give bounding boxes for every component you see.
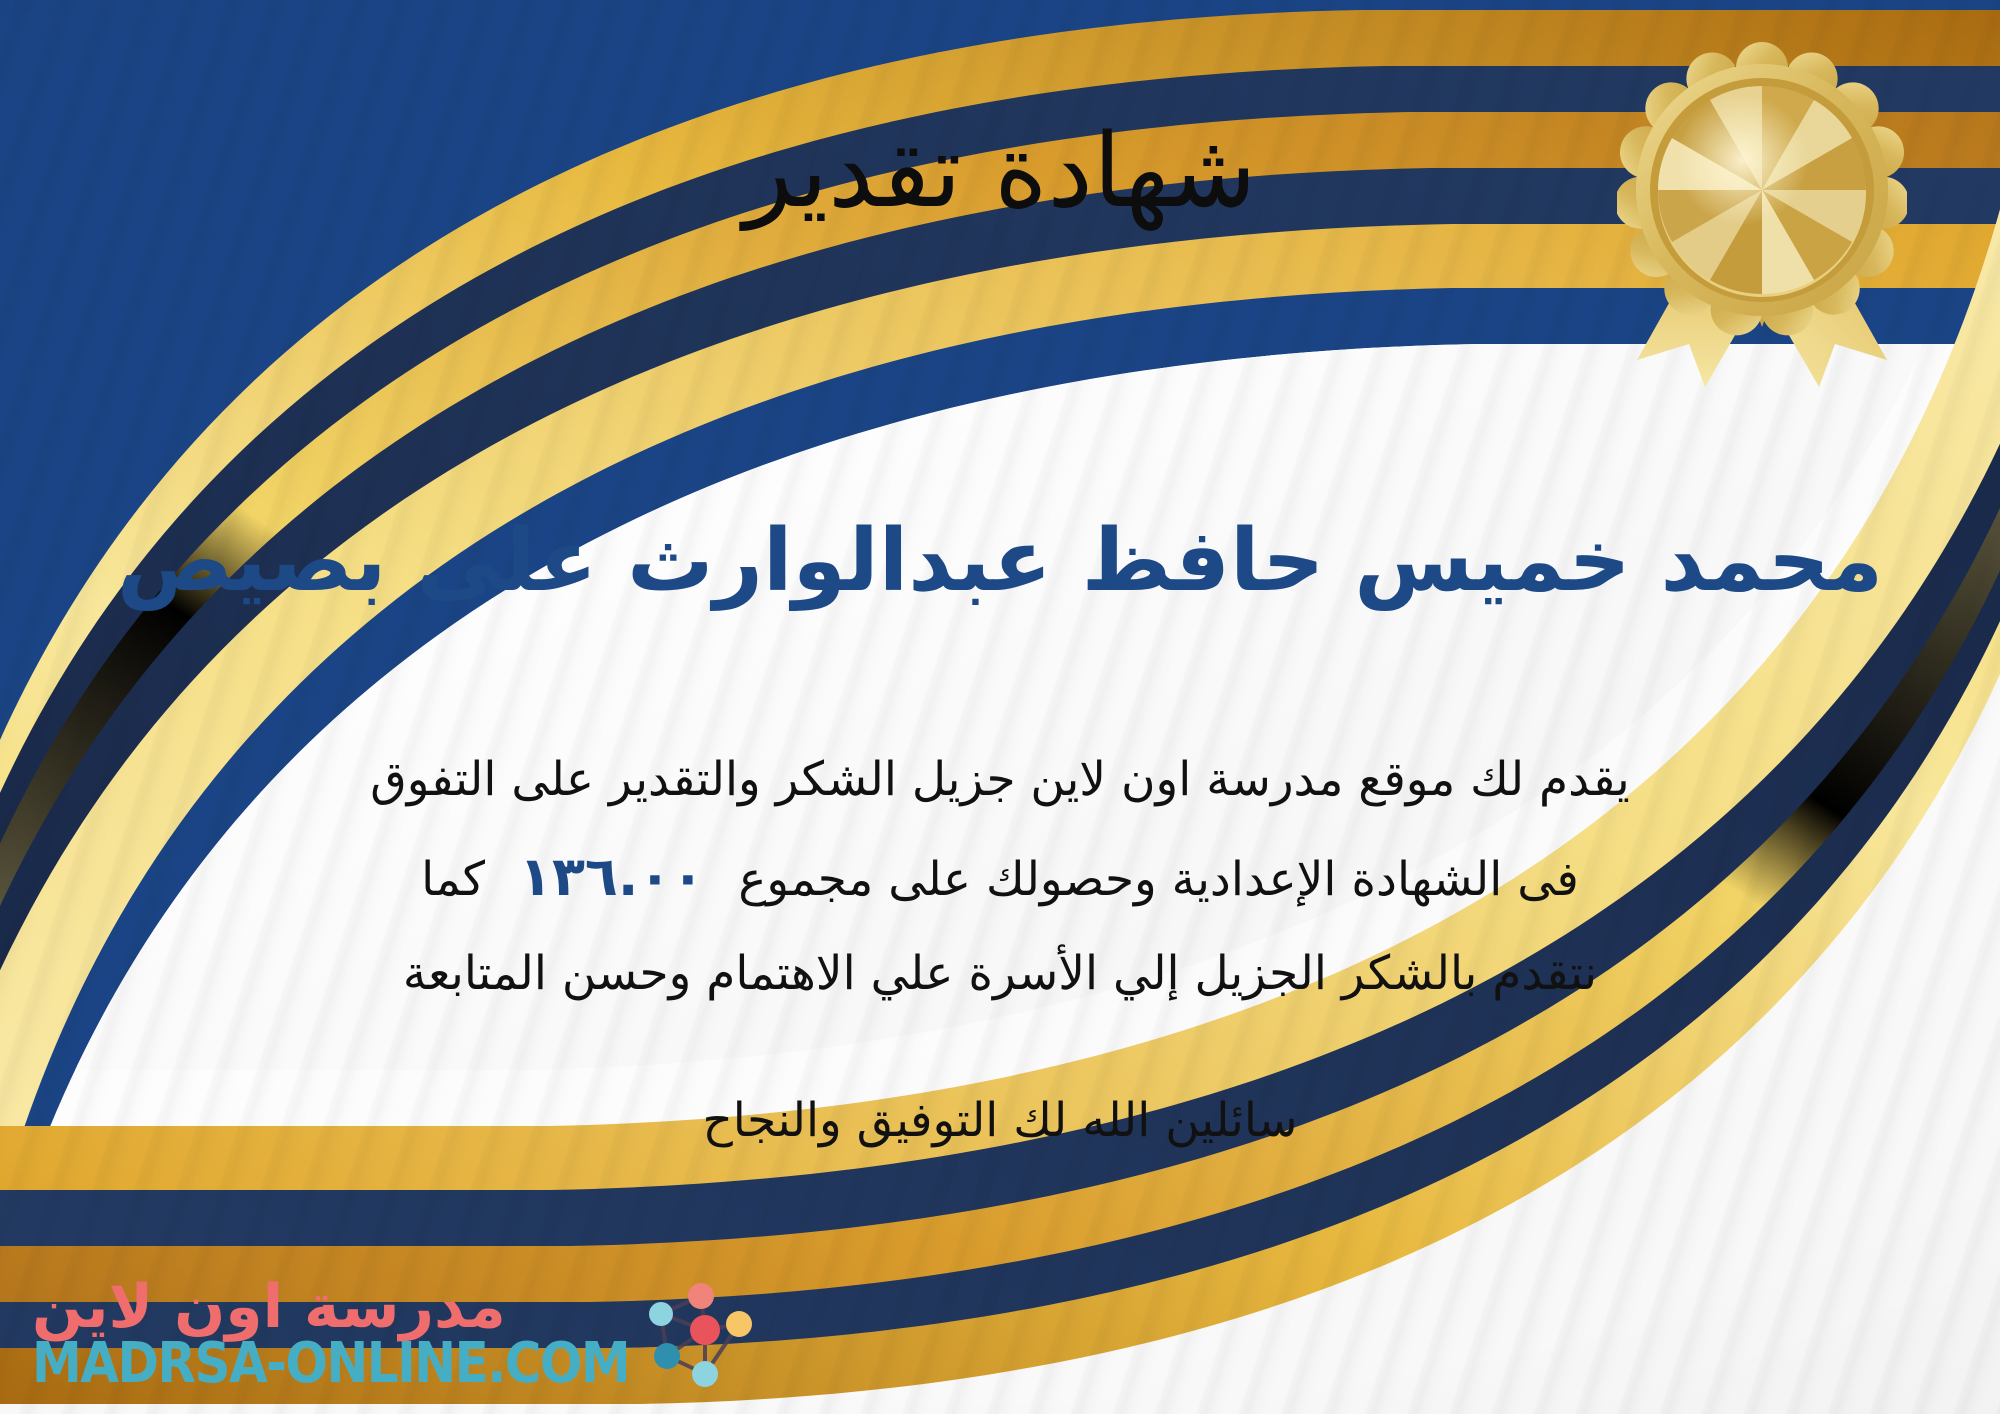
brand-domain: MADRSA-ONLINE.COM xyxy=(32,1335,629,1391)
certificate-canvas: شهادة تقدير محمد خميس حافظ عبدالوارث على… xyxy=(0,0,2000,1414)
body-line-1: يقدم لك موقع مدرسة اون لاين جزيل الشكر و… xyxy=(60,735,1940,825)
body-line-2: فى الشهادة الإعدادية وحصولك على مجموع١٣٦… xyxy=(60,825,1940,929)
closing-line: سائلين الله لك التوفيق والنجاح xyxy=(0,1093,2000,1148)
gold-award-medal-icon xyxy=(1617,42,1907,387)
brand-name-arabic: مدرسة اون لاين xyxy=(32,1277,506,1337)
brand-logo-text: مدرسة اون لاين MADRSA-ONLINE.COM xyxy=(32,1277,629,1391)
grade-total-value: ١٣٦.٠٠ xyxy=(485,825,738,929)
body-line-3: نتقدم بالشكر الجزيل إلي الأسرة علي الاهت… xyxy=(60,929,1940,1019)
body-line-2-prefix: فى الشهادة الإعدادية وحصولك على مجموع xyxy=(738,852,1579,907)
recipient-name: محمد خميس حافظ عبدالوارث على بصيص xyxy=(0,512,2000,611)
certificate-body: يقدم لك موقع مدرسة اون لاين جزيل الشكر و… xyxy=(60,735,1940,1019)
network-nodes-icon xyxy=(639,1274,759,1394)
body-line-2-suffix: كما xyxy=(421,852,485,907)
brand-logo[interactable]: مدرسة اون لاين MADRSA-ONLINE.COM xyxy=(32,1274,759,1394)
